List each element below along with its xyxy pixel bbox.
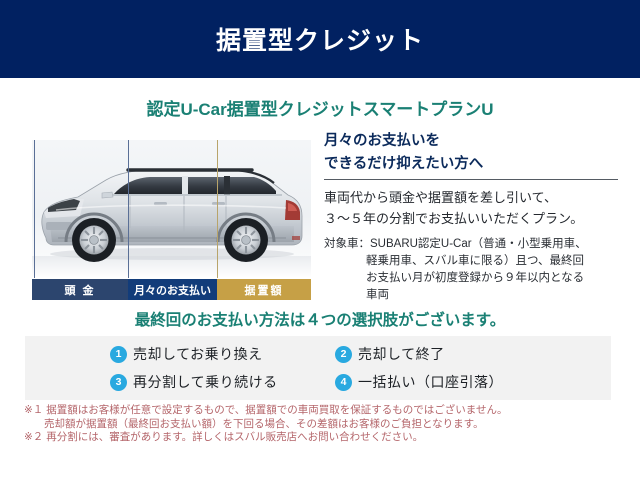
eligible-vehicle-note-line3: お支払い月が初度登録から９年以内となる — [324, 270, 624, 287]
eligible-vehicle-note: 対象車：SUBARU認定U-Car（普通・小型乗用車、 軽乗用車、スバル車に限る… — [324, 236, 624, 304]
segment-divider-start — [34, 140, 35, 278]
option-badge-3: 3 — [110, 374, 127, 391]
plan-subtitle: 認定U-Car据置型クレジットスマートプランU — [0, 95, 640, 120]
footnote-line-1: ※１ 据置額はお客様が任意で設定するもので、据置額での車両買取を保証するものでは… — [24, 404, 624, 418]
final-payment-heading: 最終回のお支払い方法は４つの選択肢がございます。 — [0, 308, 640, 330]
description-body: 車両代から頭金や据置額を差し引いて、 ３〜５年の分割でお支払いいただくプラン。 — [324, 187, 624, 229]
footnote-line-2: 売却額が据置額（最終回お支払い額）を下回る場合、その差額はお客様のご負担となりま… — [24, 418, 624, 432]
eligible-vehicle-note-line4: 車両 — [324, 287, 624, 304]
option-item-2[interactable]: 2 売却して終了 — [335, 344, 445, 364]
segment-down-payment: 頭 金 — [32, 279, 128, 300]
option-label-2: 売却して終了 — [358, 344, 445, 364]
segment-divider-downpayment — [128, 140, 129, 278]
car-photo — [32, 140, 311, 278]
option-item-4[interactable]: 4 一括払い（口座引落） — [335, 372, 503, 392]
footnotes: ※１ 据置額はお客様が任意で設定するもので、据置額での車両買取を保証するものでは… — [24, 404, 624, 445]
eligible-vehicle-note-line2: 軽乗用車、スバル車に限る）且つ、最終回 — [324, 253, 624, 270]
option-badge-2: 2 — [335, 346, 352, 363]
segment-monthly-payment: 月々のお支払い — [128, 279, 217, 300]
footnote-line-3: ※２ 再分割には、審査があります。詳しくはスバル販売店へお問い合わせください。 — [24, 431, 624, 445]
description-column: 月々のお支払いを できるだけ抑えたい方へ 車両代から頭金や据置額を差し引いて、 … — [324, 130, 624, 304]
credit-plan-page: 据置型クレジット 認定U-Car据置型クレジットスマートプランU — [0, 0, 640, 480]
description-heading-line1: 月々のお支払いを — [324, 130, 624, 153]
option-badge-4: 4 — [335, 374, 352, 391]
option-label-4: 一括払い（口座引落） — [358, 372, 503, 392]
option-label-1: 売却してお乗り換え — [133, 344, 263, 364]
option-label-3: 再分割して乗り続ける — [133, 372, 278, 392]
option-item-3[interactable]: 3 再分割して乗り続ける — [110, 372, 278, 392]
page-title: 据置型クレジット — [0, 0, 640, 78]
description-body-line2: ３〜５年の分割でお支払いいただくプラン。 — [324, 208, 624, 229]
segment-divider-residual — [217, 140, 218, 278]
eligible-vehicle-note-line1: 対象車：SUBARU認定U-Car（普通・小型乗用車、 — [324, 238, 587, 250]
option-badge-1: 1 — [110, 346, 127, 363]
forester-car-illustration — [36, 150, 308, 270]
payment-segment-bar: 頭 金 月々のお支払い 据置額 — [32, 279, 311, 300]
payment-breakdown-diagram: 頭 金 月々のお支払い 据置額 — [32, 140, 311, 300]
description-heading: 月々のお支払いを できるだけ抑えたい方へ — [324, 130, 624, 176]
final-payment-options-panel: 1 売却してお乗り換え 2 売却して終了 3 再分割して乗り続ける 4 一括払い… — [25, 336, 611, 400]
description-divider — [324, 179, 618, 180]
option-item-1[interactable]: 1 売却してお乗り換え — [110, 344, 263, 364]
description-body-line1: 車両代から頭金や据置額を差し引いて、 — [324, 187, 624, 208]
description-heading-line2: できるだけ抑えたい方へ — [324, 153, 624, 176]
segment-residual-value: 据置額 — [217, 279, 311, 300]
